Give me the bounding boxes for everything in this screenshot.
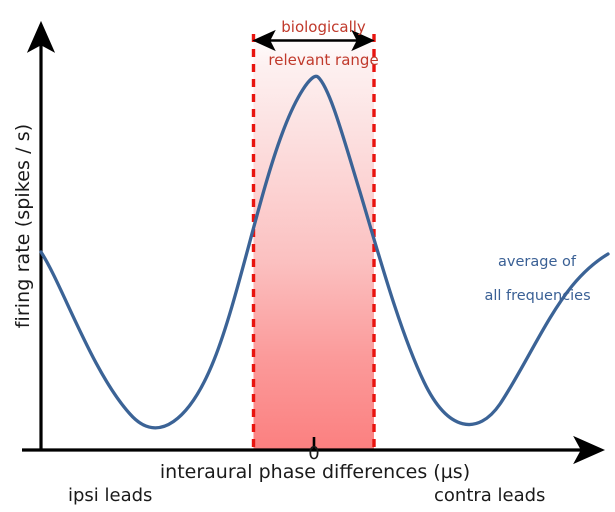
series-annotation-line-2: all frequencies xyxy=(484,288,590,304)
y-axis-label: firing rate (spikes / s) xyxy=(12,124,34,329)
range-label-line-1: biologically xyxy=(281,18,366,36)
series-annotation-line-1: average of xyxy=(498,254,576,270)
x-axis-tick-label-zero: 0 xyxy=(294,444,334,464)
x-axis-note-ipsi-leads: ipsi leads xyxy=(68,486,152,506)
x-axis-label: interaural phase differences (µs) xyxy=(140,462,490,483)
biologically-relevant-range-band xyxy=(254,34,375,449)
range-label-line-2: relevant range xyxy=(268,51,378,69)
y-axis-label-wrapper: firing rate (spikes / s) xyxy=(12,96,40,356)
series-annotation-average-all-frequencies: average of all frequencies xyxy=(466,237,576,323)
x-axis-note-contra-leads: contra leads xyxy=(434,486,545,506)
biologically-relevant-range-label: biologically relevant range xyxy=(249,2,379,86)
figure-canvas: firing rate (spikes / s) interaural phas… xyxy=(0,0,615,512)
